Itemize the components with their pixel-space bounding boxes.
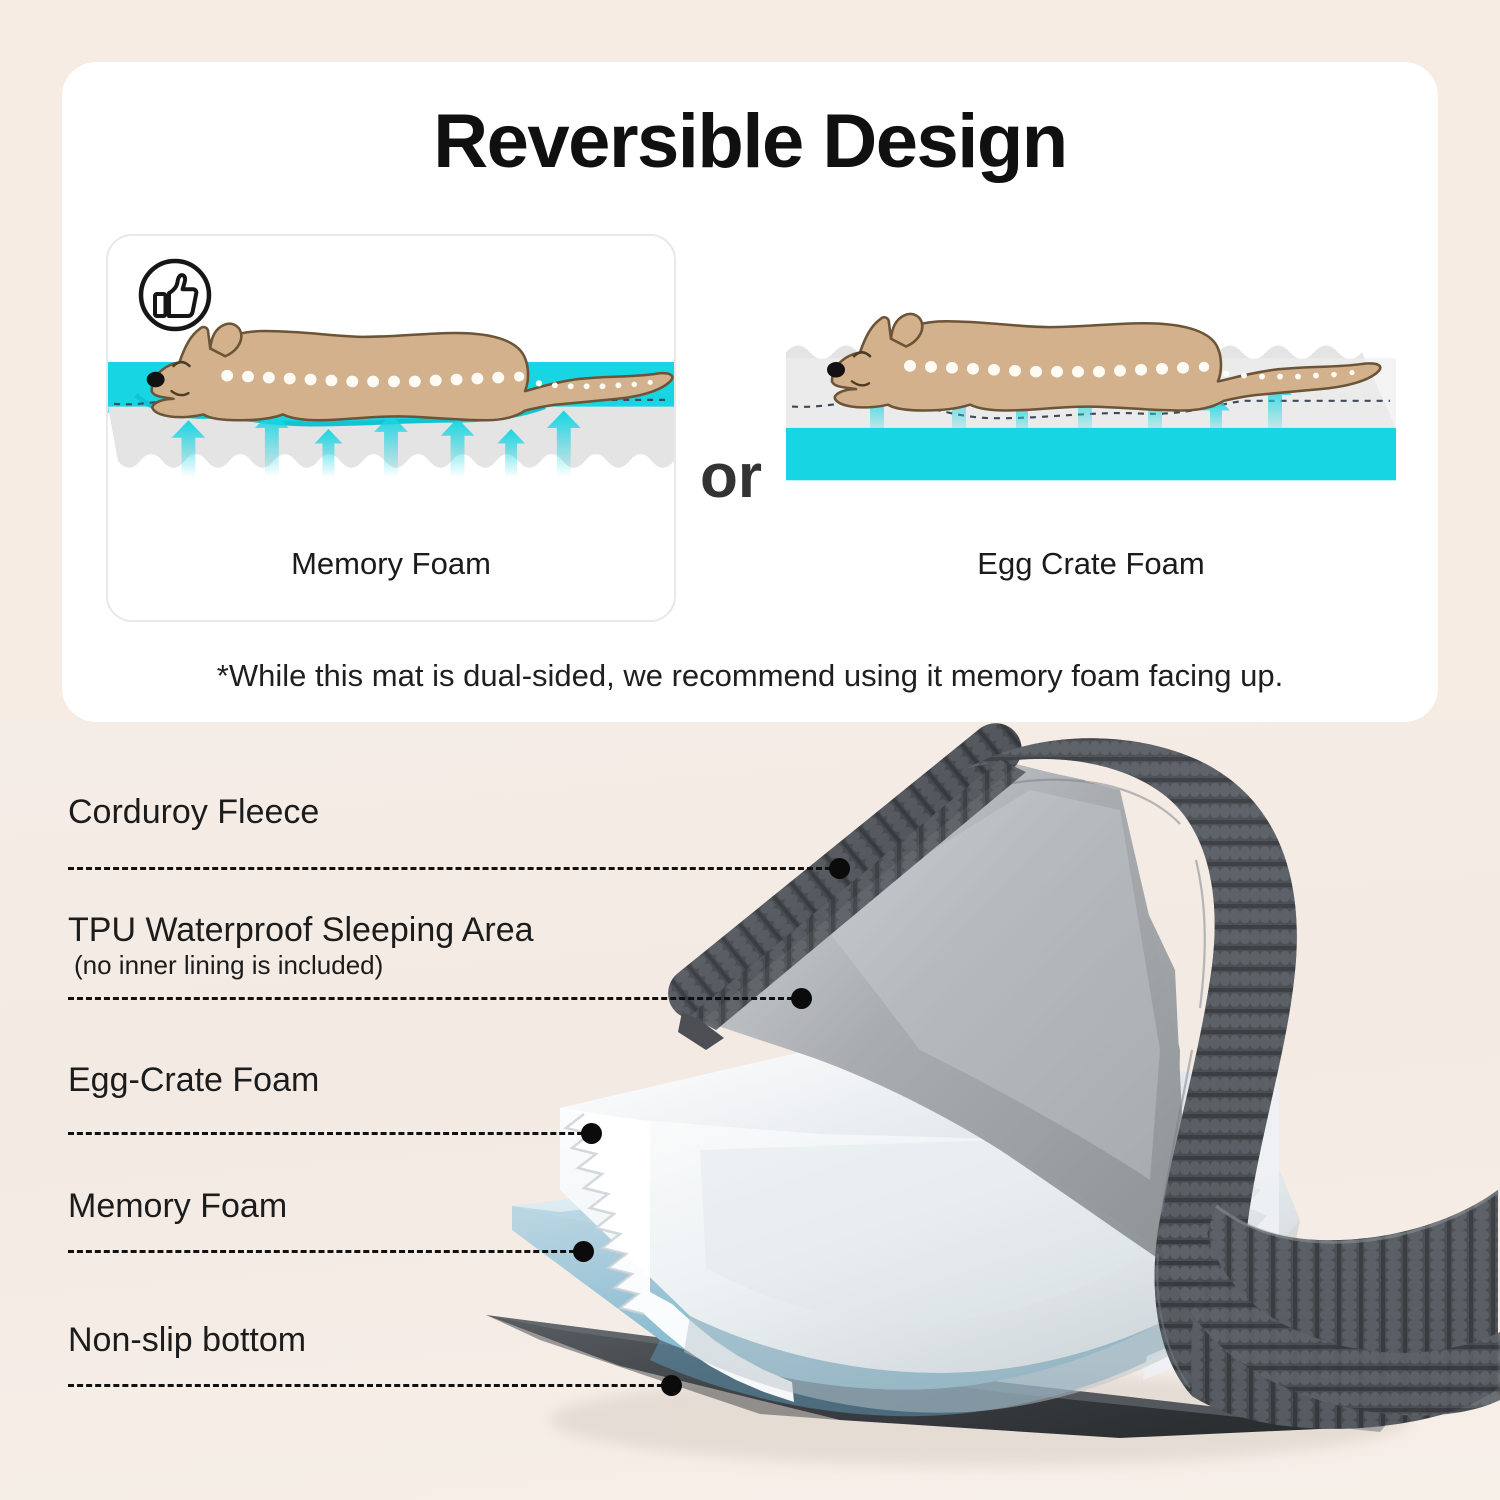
leader-line [68,867,840,870]
leader-line [68,1250,584,1253]
leader-egg-crate-foam [68,1132,592,1135]
leader-memory-foam [68,1250,584,1253]
card-footnote: *While this mat is dual-sided, we recomm… [62,658,1438,694]
callout-memory-foam: Memory Foam [68,1186,287,1226]
panel-egg-crate-foam: Egg Crate Foam [786,234,1396,622]
reversible-design-card: Reversible Design [62,62,1438,722]
egg-crate-foam-illustration [786,234,1396,554]
memory-foam-illustration [108,236,674,556]
panel-caption-memory-foam: Memory Foam [108,546,674,582]
leader-line [68,1132,592,1135]
leader-dot [791,988,812,1009]
callout-label-corduroy-fleece: Corduroy Fleece [68,792,319,832]
panel-memory-foam: Memory Foam [106,234,676,622]
leader-dot [573,1241,594,1262]
leader-line [68,1384,672,1387]
leader-non-slip-bottom [68,1384,672,1387]
divider-or: or [676,446,786,508]
callout-label-egg-crate-foam: Egg-Crate Foam [68,1060,319,1100]
leader-line [68,997,802,1000]
callout-label-memory-foam: Memory Foam [68,1186,287,1226]
callout-label-non-slip-bottom: Non-slip bottom [68,1320,306,1360]
callout-label-tpu-waterproof: TPU Waterproof Sleeping Area [68,910,534,950]
leader-dot [581,1123,602,1144]
callout-corduroy-fleece: Corduroy Fleece [68,792,319,832]
panel-caption-egg-crate-foam: Egg Crate Foam [786,546,1396,582]
layer-callouts: Corduroy Fleece TPU Waterproof Sleeping … [0,720,1500,1500]
leader-dot [829,858,850,879]
leader-tpu-waterproof [68,997,802,1000]
comparison-panels: Memory Foam or [106,234,1396,634]
product-exploded-view [0,720,1500,1500]
leader-dot [661,1375,682,1396]
leader-corduroy-fleece [68,867,840,870]
page-title: Reversible Design [62,98,1438,185]
callout-tpu-waterproof: TPU Waterproof Sleeping Area (no inner l… [68,910,534,981]
callout-sublabel-tpu-waterproof: (no inner lining is included) [68,950,534,981]
callout-non-slip-bottom: Non-slip bottom [68,1320,306,1360]
callout-egg-crate-foam: Egg-Crate Foam [68,1060,319,1100]
